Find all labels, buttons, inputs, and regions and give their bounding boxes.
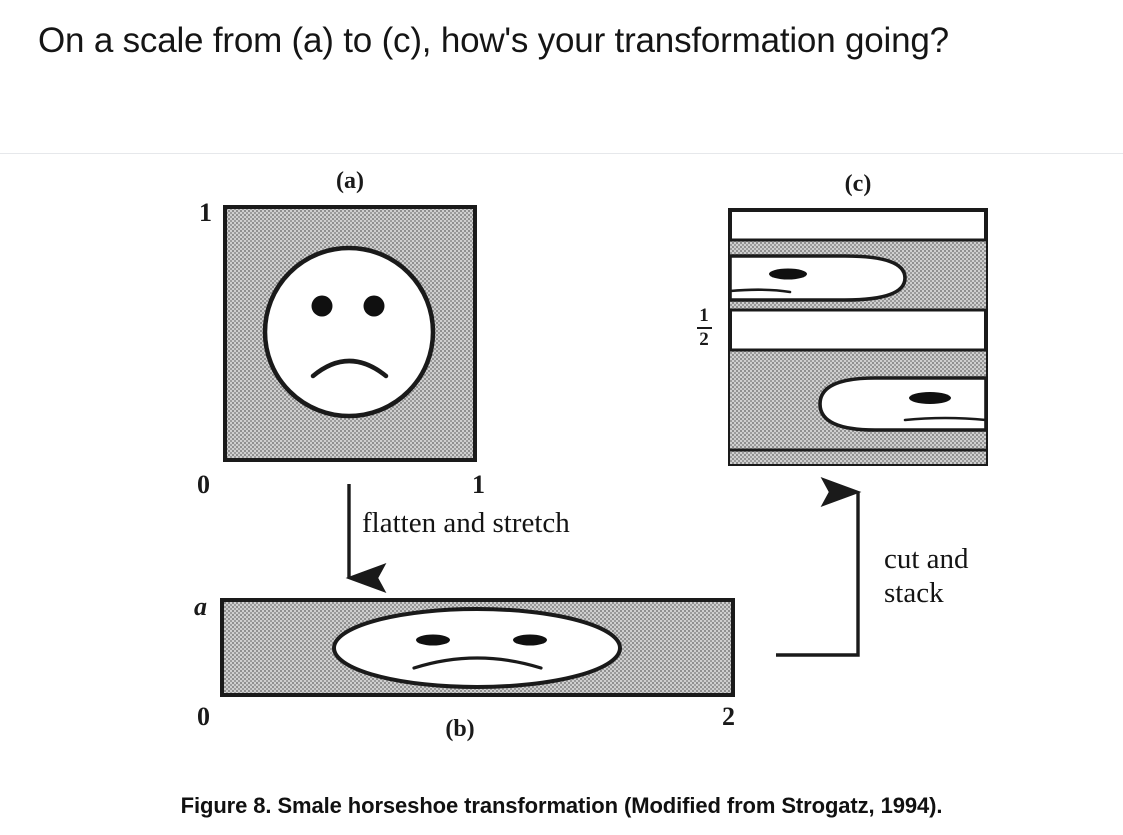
panel-b-left-eye [416,635,450,646]
panel-b-face-ellipse [334,609,620,687]
question-text: On a scale from (a) to (c), how's your t… [38,16,1078,65]
figure-illustration [0,154,1123,835]
panel-label-c: (c) [818,171,898,198]
figure-caption: Figure 8. Smale horseshoe transformation… [0,793,1123,819]
cut-and-stack-arrow [776,492,858,655]
panel-a-left-eye [312,296,333,317]
figure-area: (a) (c) (b) 1 0 1 a 0 2 1 2 flatten and … [0,154,1123,835]
panel-a-right-eye [364,296,385,317]
cut-and-stack-label-line-1: cut and [884,542,1034,576]
panel-b-graphic [222,600,733,695]
panel-c-bottom-lobe [820,378,986,430]
question-header: On a scale from (a) to (c), how's your t… [0,0,1123,153]
panel-a-tick-top-left: 1 [199,198,212,228]
panel-a-graphic [225,207,475,502]
panel-a-face-circle [265,248,433,416]
panel-c-tick-one-half: 1 2 [690,306,718,350]
panel-b-tick-bottom-left: 0 [197,702,210,732]
panel-c-bottom-band [730,350,986,464]
cut-and-stack-label-line-2: stack [884,576,1034,610]
panel-c-top-lobe [730,256,905,300]
panel-label-a: (a) [310,168,390,195]
panel-b-tick-bottom-right: 2 [722,702,735,732]
panel-c-graphic [730,210,986,464]
panel-c-top-band [730,240,986,310]
fraction-denominator: 2 [699,329,709,350]
flatten-and-stretch-label: flatten and stretch [362,506,570,540]
panel-label-b: (b) [420,716,500,743]
panel-b-right-eye [513,635,547,646]
panel-a-tick-bottom-left: 0 [197,470,210,500]
panel-c-top-eye [769,269,807,280]
panel-a-tick-bottom-right: 1 [472,470,485,500]
fraction-numerator: 1 [699,305,709,326]
panel-c-bottom-eye [909,392,951,404]
panel-b-tick-top-left: a [194,592,207,622]
cut-and-stack-label: cut and stack [884,542,1034,610]
